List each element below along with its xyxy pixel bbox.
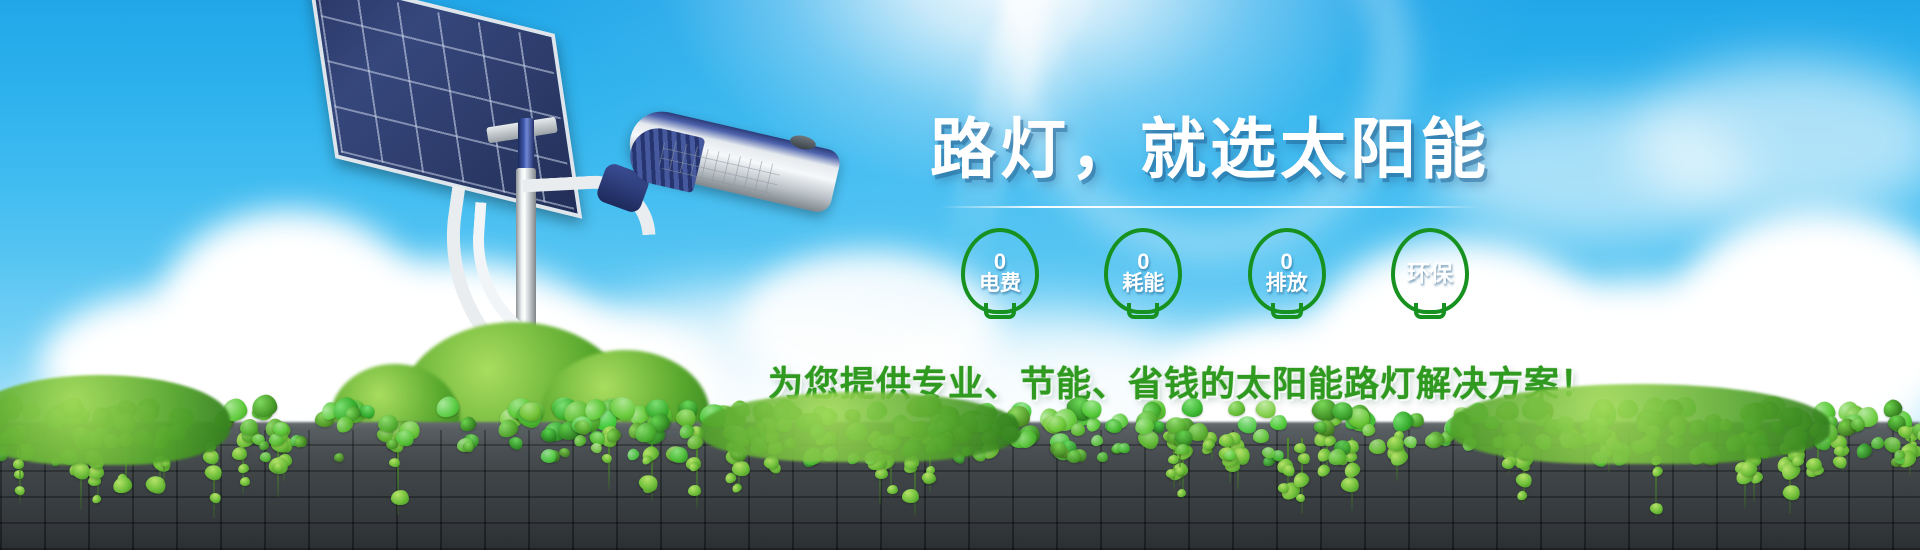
feature-badge-paifang[interactable]: 0 排放	[1242, 228, 1332, 318]
feature-badge-row: 0 电费 0 耗能 0 排放 环保	[955, 228, 1475, 318]
page-title: 路灯，就选太阳能	[930, 96, 1490, 192]
badge-zero-value: 0	[1137, 251, 1149, 273]
badge-zero-value: 0	[994, 251, 1006, 273]
shrub-right	[1450, 384, 1830, 464]
solar-street-lamp-banner: 路灯，就选太阳能 0 电费 0 耗能 0 排放 环保	[0, 0, 1920, 550]
feature-badge-haoneng[interactable]: 0 耗能	[1098, 228, 1188, 318]
feature-badge-huanbao[interactable]: 环保	[1385, 228, 1475, 318]
badge-label: 电费	[979, 273, 1021, 295]
shrub-center	[700, 392, 1020, 462]
feature-badge-dianfei[interactable]: 0 电费	[955, 228, 1045, 318]
badge-zero-value: 0	[1281, 251, 1293, 273]
badge-label: 耗能	[1122, 273, 1164, 295]
shrub-left	[0, 375, 230, 465]
badge-label: 排放	[1266, 273, 1308, 295]
headline-underline	[940, 206, 1480, 208]
badge-label: 环保	[1407, 261, 1453, 285]
